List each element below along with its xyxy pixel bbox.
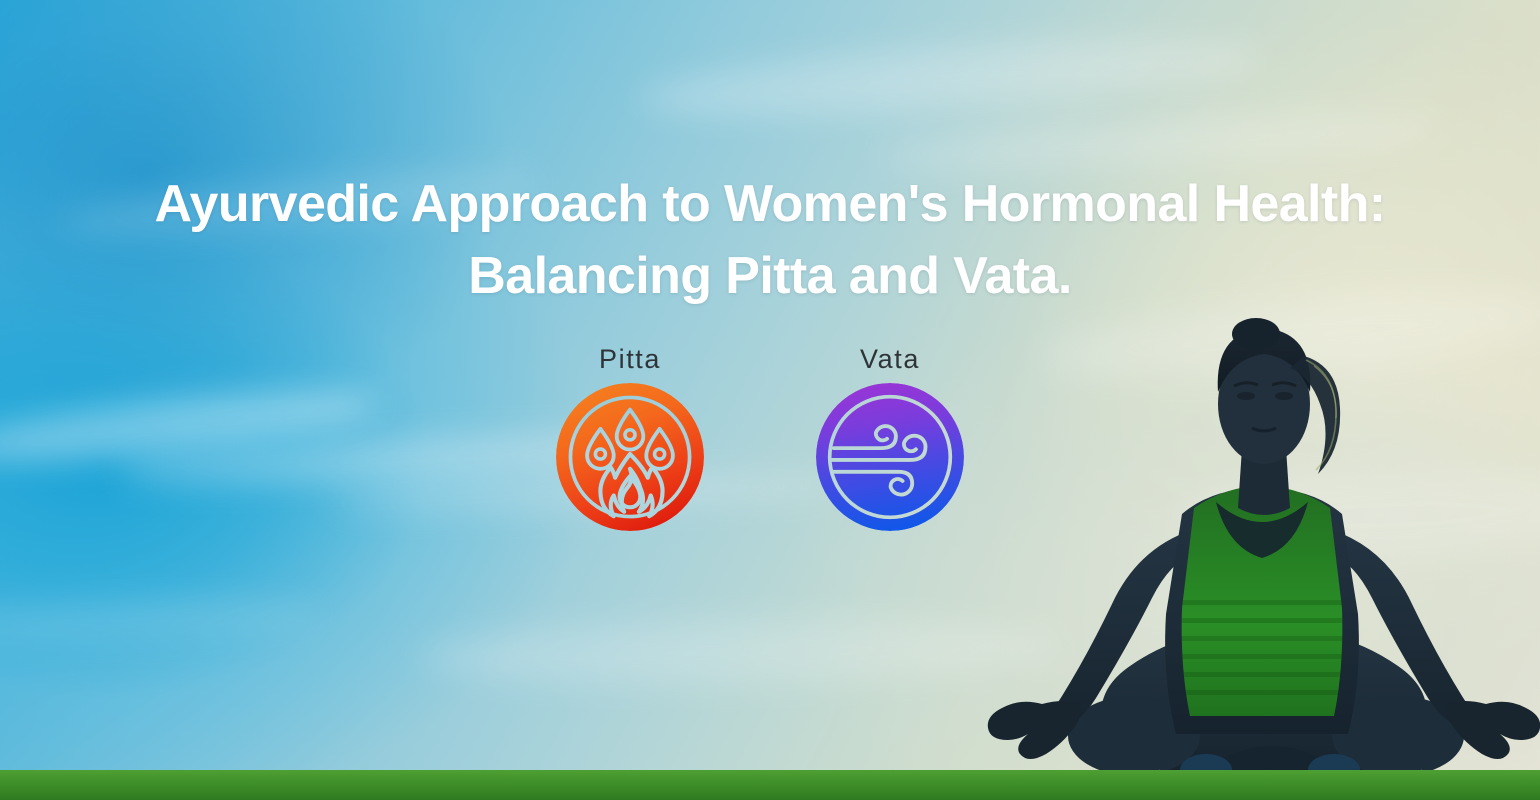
dosha-pitta: Pitta	[540, 346, 720, 531]
dosha-vata-label: Vata	[860, 346, 920, 373]
fire-drops-icon	[556, 383, 704, 531]
dosha-icon-group: Pitta	[540, 346, 980, 531]
wind-swirl-icon	[816, 383, 964, 531]
grass-base	[0, 770, 1540, 800]
dosha-vata: Vata	[800, 346, 980, 531]
dosha-pitta-label: Pitta	[599, 346, 661, 373]
meditating-woman-silhouette	[984, 300, 1540, 800]
hero-banner: Ayurvedic Approach to Women's Hormonal H…	[0, 0, 1540, 800]
grass-strip	[0, 758, 1540, 800]
